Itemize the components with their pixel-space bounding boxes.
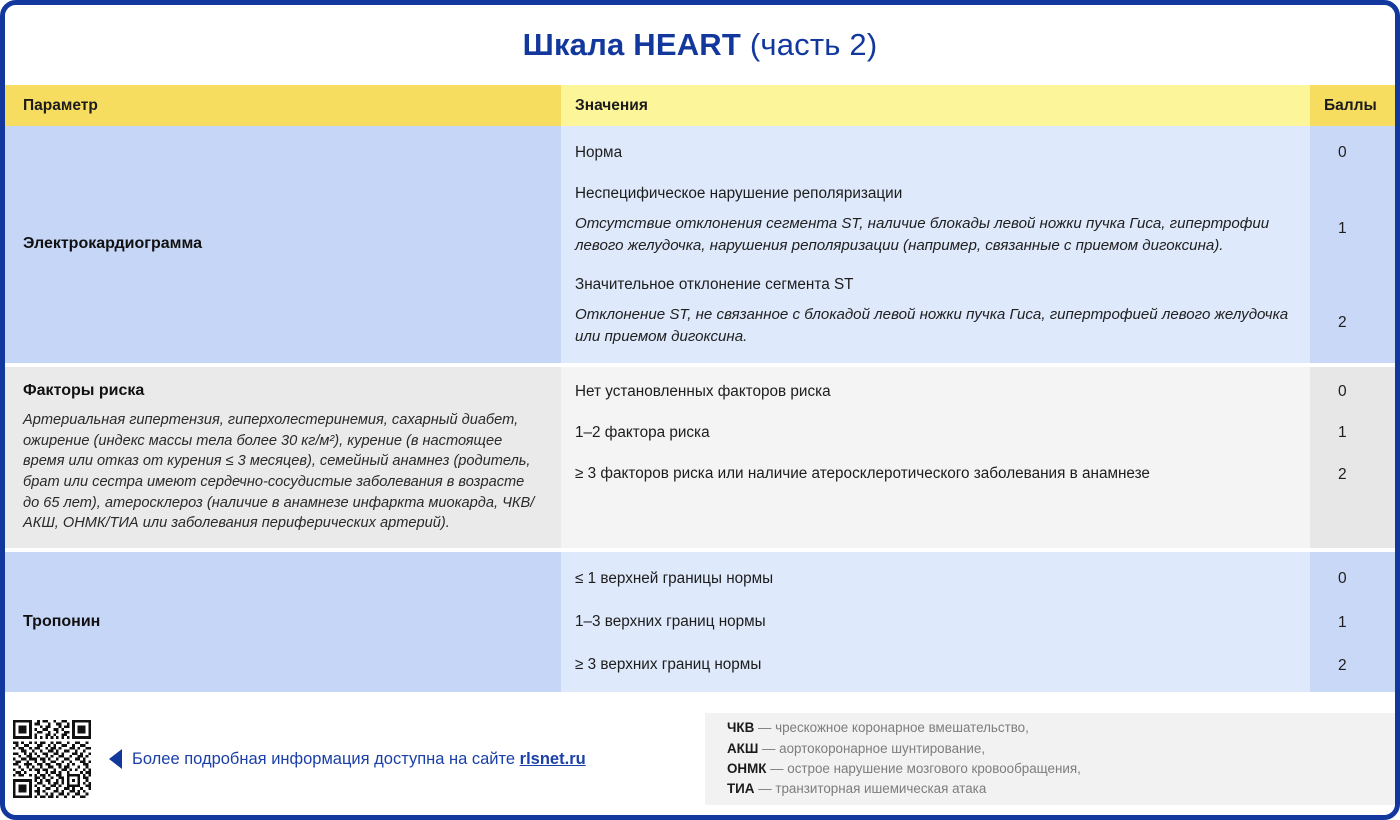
value-text: Неспецифическое нарушение реполяризации [575, 183, 1310, 204]
abbreviation-definition: — чрескожное коронарное вмешательство, [754, 720, 1029, 735]
value-text: Нет установленных факторов риска [575, 381, 1310, 402]
page-title: Шкала HEART (часть 2) [523, 27, 878, 63]
value-note: Отклонение ST, не связанное с блокадой л… [575, 304, 1310, 347]
row-parameter-cell: Тропонин [5, 552, 561, 692]
parameter-title: Факторы риска [23, 381, 543, 402]
abbreviation-item: ТИА — транзиторная ишемическая атака [727, 779, 1395, 799]
value-item: ≤ 1 верхней границы нормы [561, 568, 1310, 589]
value-item: Неспецифическое нарушение реполяризации … [561, 183, 1310, 256]
value-text: Норма [575, 142, 1310, 163]
footer: Более подробная информация доступна на с… [5, 703, 1395, 815]
abbreviation-item: ЧКВ — чрескожное коронарное вмешательств… [727, 718, 1395, 738]
abbreviation-item: АКШ — аортокоронарное шунтирование, [727, 739, 1395, 759]
value-item: Значительное отклонение сегмента ST Откл… [561, 274, 1310, 347]
parameter-title: Тропонин [23, 612, 543, 633]
value-item: ≥ 3 верхних границ нормы [561, 654, 1310, 675]
value-item: ≥ 3 факторов риска или наличие атероскле… [561, 463, 1310, 484]
score-value: 0 [1338, 568, 1395, 589]
table-row: Факторы риска Артериальная гипертензия, … [5, 367, 1395, 548]
value-item: Нет установленных факторов риска [561, 381, 1310, 402]
abbreviation-term: ТИА [727, 781, 754, 796]
abbreviation-term: АКШ [727, 741, 758, 756]
abbreviation-definition: — острое нарушение мозгового кровообраще… [766, 761, 1080, 776]
value-note: Отсутствие отклонения сегмента ST, налич… [575, 213, 1310, 256]
abbreviation-item: ОНМК — острое нарушение мозгового кровоо… [727, 759, 1395, 779]
table-header-row: Параметр Значения Баллы [5, 85, 1395, 126]
score-value: 1 [1338, 612, 1395, 633]
title-sub: (часть 2) [750, 27, 878, 62]
table-row: Электрокардиограмма Норма Неспецифическо… [5, 126, 1395, 363]
header-cell-values: Значения [561, 85, 1310, 126]
value-text: ≤ 1 верхней границы нормы [575, 568, 1310, 589]
row-parameter-cell: Электрокардиограмма [5, 126, 561, 363]
row-values-cell: ≤ 1 верхней границы нормы 1–3 верхних гр… [561, 552, 1310, 692]
score-value: 2 [1338, 312, 1395, 333]
site-url[interactable]: rlsnet.ru [520, 750, 586, 768]
parameter-description: Артериальная гипертензия, гиперхолестери… [23, 410, 543, 534]
row-score-cell: 0 1 2 [1310, 552, 1395, 692]
score-value: 0 [1338, 142, 1395, 163]
score-value: 2 [1338, 464, 1395, 485]
score-value: 1 [1338, 422, 1395, 443]
value-item: Норма [561, 142, 1310, 163]
score-value: 1 [1338, 218, 1395, 239]
value-text: 1–3 верхних границ нормы [575, 611, 1310, 632]
title-bar: Шкала HEART (часть 2) [5, 5, 1395, 85]
row-values-cell: Норма Неспецифическое нарушение реполяри… [561, 126, 1310, 363]
triangle-left-icon [109, 749, 122, 769]
table-row: Тропонин ≤ 1 верхней границы нормы 1–3 в… [5, 552, 1395, 692]
value-text: ≥ 3 факторов риска или наличие атероскле… [575, 463, 1310, 484]
more-info-link[interactable]: Более подробная информация доступна на с… [132, 750, 586, 769]
value-text: 1–2 фактора риска [575, 422, 1310, 443]
abbreviation-definition: — аортокоронарное шунтирование, [758, 741, 985, 756]
header-cell-parameter: Параметр [5, 85, 561, 126]
footer-link-area: Более подробная информация доступна на с… [5, 703, 705, 815]
abbreviation-definition: — транзиторная ишемическая атака [754, 781, 986, 796]
value-text: Значительное отклонение сегмента ST [575, 274, 1310, 295]
header-cell-score: Баллы [1310, 85, 1395, 126]
heart-scale-card: Шкала HEART (часть 2) Параметр Значения … [0, 0, 1400, 820]
title-main: Шкала HEART [523, 27, 741, 62]
abbreviation-term: ЧКВ [727, 720, 754, 735]
value-item: 1–2 фактора риска [561, 422, 1310, 443]
score-value: 0 [1338, 381, 1395, 402]
row-score-cell: 0 1 2 [1310, 367, 1395, 548]
score-value: 2 [1338, 655, 1395, 676]
abbreviation-term: ОНМК [727, 761, 766, 776]
row-parameter-cell: Факторы риска Артериальная гипертензия, … [5, 367, 561, 548]
row-values-cell: Нет установленных факторов риска 1–2 фак… [561, 367, 1310, 548]
value-item: 1–3 верхних границ нормы [561, 611, 1310, 632]
value-text: ≥ 3 верхних границ нормы [575, 654, 1310, 675]
row-score-cell: 0 1 2 [1310, 126, 1395, 363]
qr-code-icon[interactable] [13, 720, 91, 798]
parameter-title: Электрокардиограмма [23, 234, 543, 255]
abbreviations-panel: ЧКВ — чрескожное коронарное вмешательств… [705, 713, 1395, 805]
more-info-prefix: Более подробная информация доступна на с… [132, 750, 520, 768]
scale-table: Параметр Значения Баллы Электрокардиогра… [5, 85, 1395, 692]
